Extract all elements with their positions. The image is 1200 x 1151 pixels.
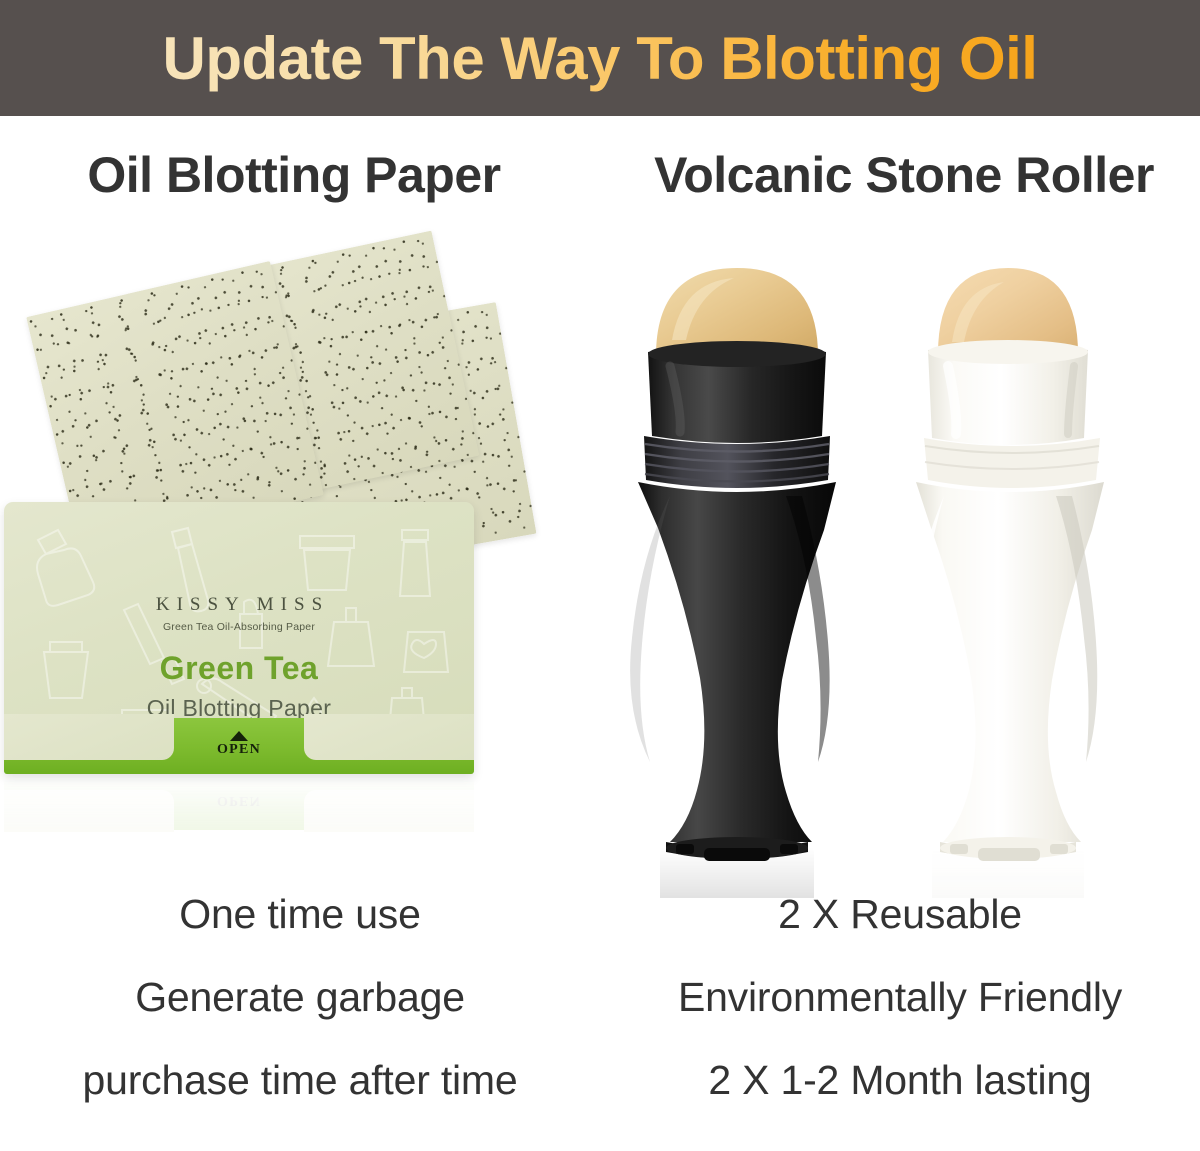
product-name: Green Tea — [4, 650, 474, 687]
caption-line: Environmentally Friendly — [600, 977, 1200, 1018]
caption-line: Generate garbage — [0, 977, 600, 1018]
left-column-heading: Oil Blotting Paper — [0, 146, 594, 204]
white-volcanic-stone-roller — [888, 244, 1128, 864]
open-arrow-icon — [230, 731, 248, 741]
product-box-face: KISSY MISS Green Tea Oil-Absorbing Paper… — [4, 502, 474, 774]
header-bar: Update The Way To Blotting Oil — [0, 0, 1200, 116]
box-product-block: Green Tea Oil Blotting Paper — [4, 650, 474, 722]
comparison-columns: Oil Blotting Paper — [0, 116, 1200, 1151]
column-oil-blotting-paper: Oil Blotting Paper — [0, 116, 600, 1151]
right-product-stage — [600, 226, 1200, 886]
black-volcanic-stone-roller — [612, 244, 862, 864]
caption-line: 2 X 1-2 Month lasting — [600, 1060, 1200, 1101]
right-captions: 2 X Reusable Environmentally Friendly 2 … — [600, 894, 1200, 1101]
box-brand-block: KISSY MISS Green Tea Oil-Absorbing Paper — [4, 594, 474, 633]
caption-line: purchase time after time — [0, 1060, 600, 1101]
brand-tagline: Green Tea Oil-Absorbing Paper — [4, 621, 474, 633]
left-captions: One time use Generate garbage purchase t… — [0, 894, 600, 1101]
column-volcanic-stone-roller: Volcanic Stone Roller — [600, 116, 1200, 1151]
left-product-stage: KISSY MISS Green Tea Oil-Absorbing Paper… — [0, 226, 600, 886]
right-column-heading: Volcanic Stone Roller — [604, 146, 1200, 204]
brand-name: KISSY MISS — [4, 594, 474, 616]
caption-line: One time use — [0, 894, 600, 935]
page-title: Update The Way To Blotting Oil — [159, 24, 1042, 93]
open-label: OPEN — [4, 731, 474, 758]
open-label-text: OPEN — [217, 742, 261, 757]
product-box: KISSY MISS Green Tea Oil-Absorbing Paper… — [4, 502, 474, 802]
product-comparison-poster: Update The Way To Blotting Oil Oil Blott… — [0, 0, 1200, 1151]
